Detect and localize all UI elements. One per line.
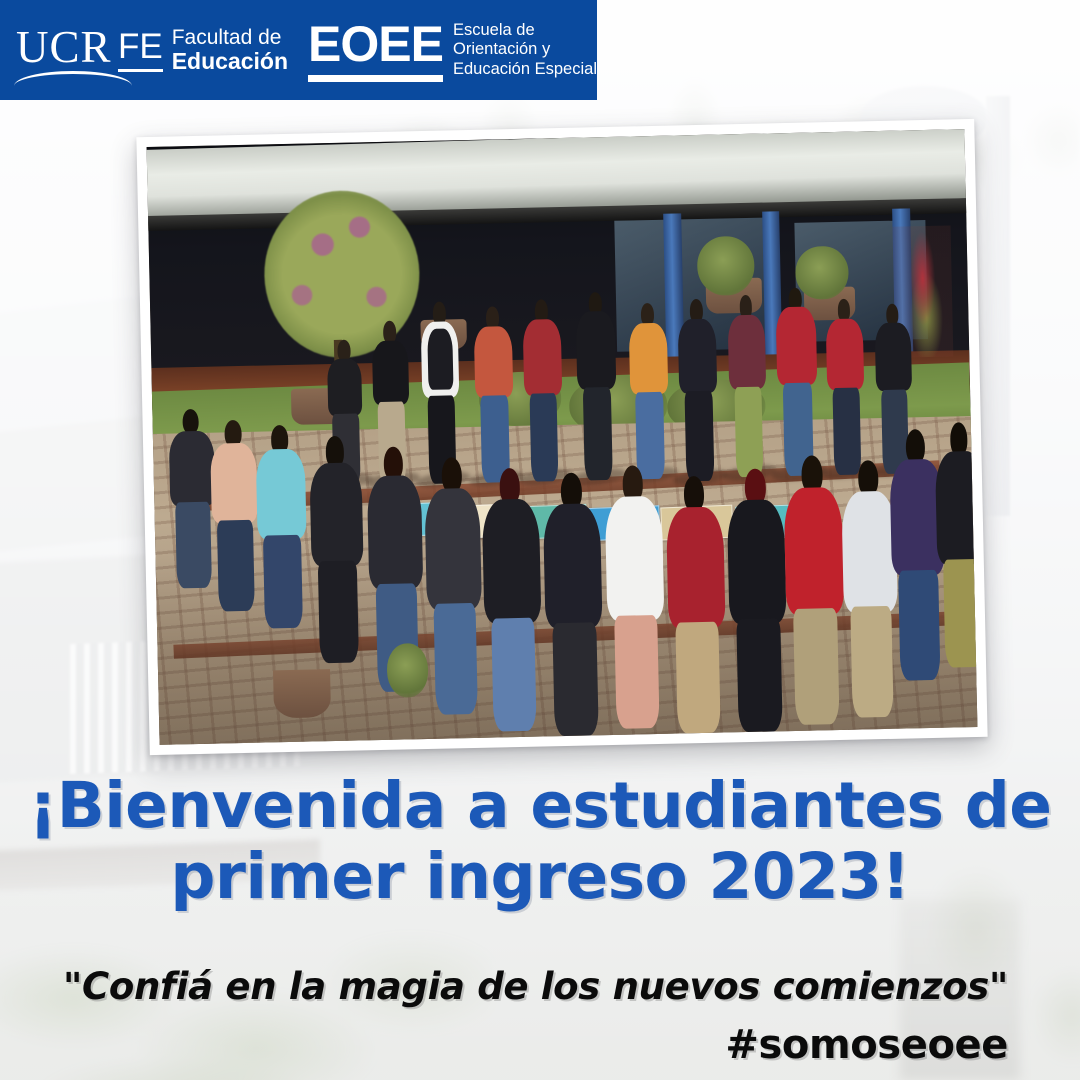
photo-person (542, 472, 605, 736)
photo-person (776, 288, 819, 474)
photo-image (147, 129, 978, 745)
eoee-logo: EOEE Escuela de Orientación y Educación … (308, 17, 597, 83)
fe-line-1: Facultad de (172, 27, 288, 49)
photo-person (678, 299, 720, 479)
eoee-wordmark: Escuela de Orientación y Educación Espec… (453, 21, 597, 79)
photo-foreground-plant (387, 643, 429, 698)
title-line-1: ¡Bienvenida a estudiantes de (0, 770, 1080, 841)
facultad-educacion-logo: FE Facultad de Educación (118, 20, 288, 80)
photo-person (522, 299, 564, 479)
fe-monogram: FE (118, 29, 163, 72)
fe-line-2: Educación (172, 49, 288, 73)
ucr-acronym: UCR (16, 25, 112, 70)
tagline-hashtag: #somoseoee (48, 1022, 1008, 1068)
photo-person (604, 465, 667, 729)
poster-tagline: "Confiá en la magia de los nuevos comien… (48, 965, 1008, 1068)
title-line-2: primer ingreso 2023! (0, 841, 1080, 912)
eoee-line-3: Educación Especial (453, 60, 597, 79)
photo-person (825, 299, 866, 473)
ucr-logo: UCR (14, 19, 96, 81)
photo-person (423, 457, 484, 715)
photo-person (934, 422, 977, 668)
photo-person (308, 435, 365, 663)
photo-person (665, 475, 728, 733)
photo-person (727, 295, 769, 475)
eoee-monogram: EOEE (308, 19, 443, 82)
photo-person (210, 420, 260, 612)
eoee-line-2: Orientación y (453, 40, 597, 59)
tagline-quote: "Confiá en la magia de los nuevos comien… (48, 965, 1008, 1008)
poster-title: ¡Bienvenida a estudiantes de primer ingr… (0, 770, 1080, 912)
photo-person (575, 292, 618, 478)
photo-person (481, 467, 544, 731)
brand-header: UCR FE Facultad de Educación EOEE Escuel… (0, 0, 597, 100)
ucr-swoosh-icon (14, 71, 132, 86)
fe-wordmark: Facultad de Educación (172, 27, 288, 74)
photo-person (783, 455, 846, 725)
photo-foreground-planter (273, 669, 331, 718)
photo-person (629, 303, 670, 477)
photo-person (726, 468, 789, 732)
photo-person (255, 425, 309, 629)
poster-canvas: UCR FE Facultad de Educación EOEE Escuel… (0, 0, 1080, 1080)
eoee-line-1: Escuela de (453, 21, 597, 40)
photo-card (136, 119, 987, 755)
photo-person (473, 307, 514, 481)
photo-person (420, 302, 462, 482)
